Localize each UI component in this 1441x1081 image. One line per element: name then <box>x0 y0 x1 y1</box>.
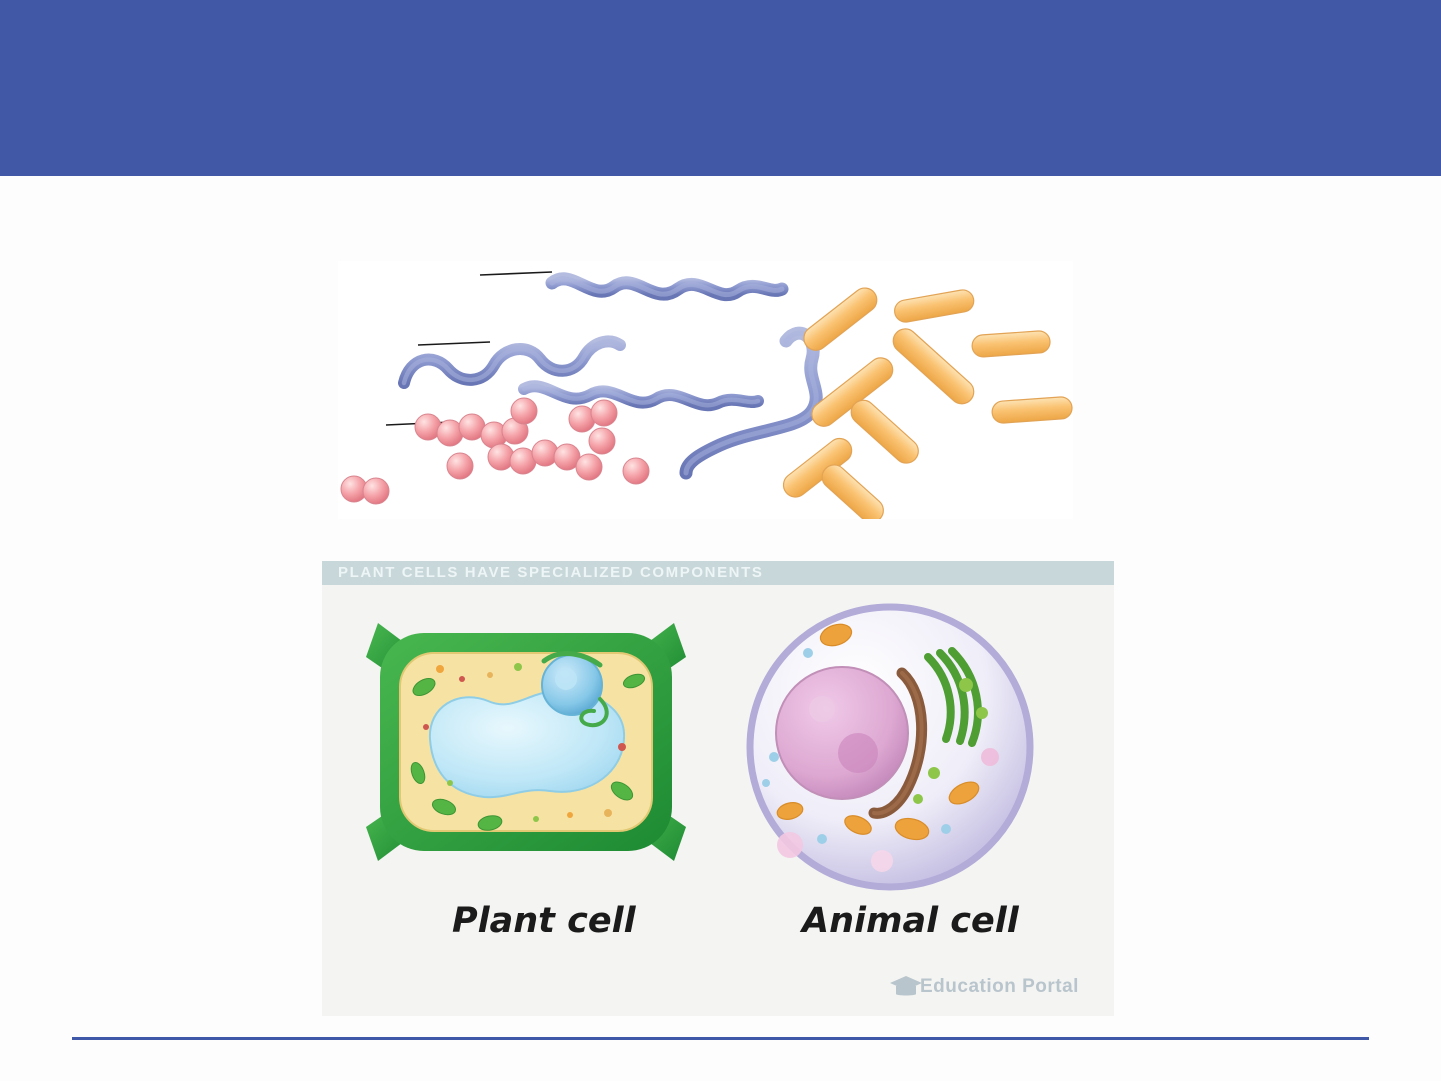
slide-title-band <box>0 0 1441 176</box>
bacteria-shapes-svg <box>338 261 1073 519</box>
plant-cell-caption: Plant cell <box>452 901 636 941</box>
plant-cell-illustration <box>366 623 686 861</box>
animal-nucleus <box>776 667 908 799</box>
plant-animal-cell-figure: PLANT CELLS HAVE SPECIALIZED COMPONENTS <box>322 561 1114 1016</box>
animal-nucleolus <box>838 733 878 773</box>
animal-cell-caption: Animal cell <box>802 901 1019 941</box>
animal-cell-illustration <box>750 607 1030 887</box>
cells-svg <box>322 561 1114 1016</box>
plant-vacuole <box>430 691 624 797</box>
watermark-text: Education Portal <box>920 976 1079 998</box>
bacteria-shapes-figure <box>338 261 1073 519</box>
slide-canvas: PLANT CELLS HAVE SPECIALIZED COMPONENTS <box>0 0 1441 1081</box>
footer-divider <box>72 1037 1369 1040</box>
